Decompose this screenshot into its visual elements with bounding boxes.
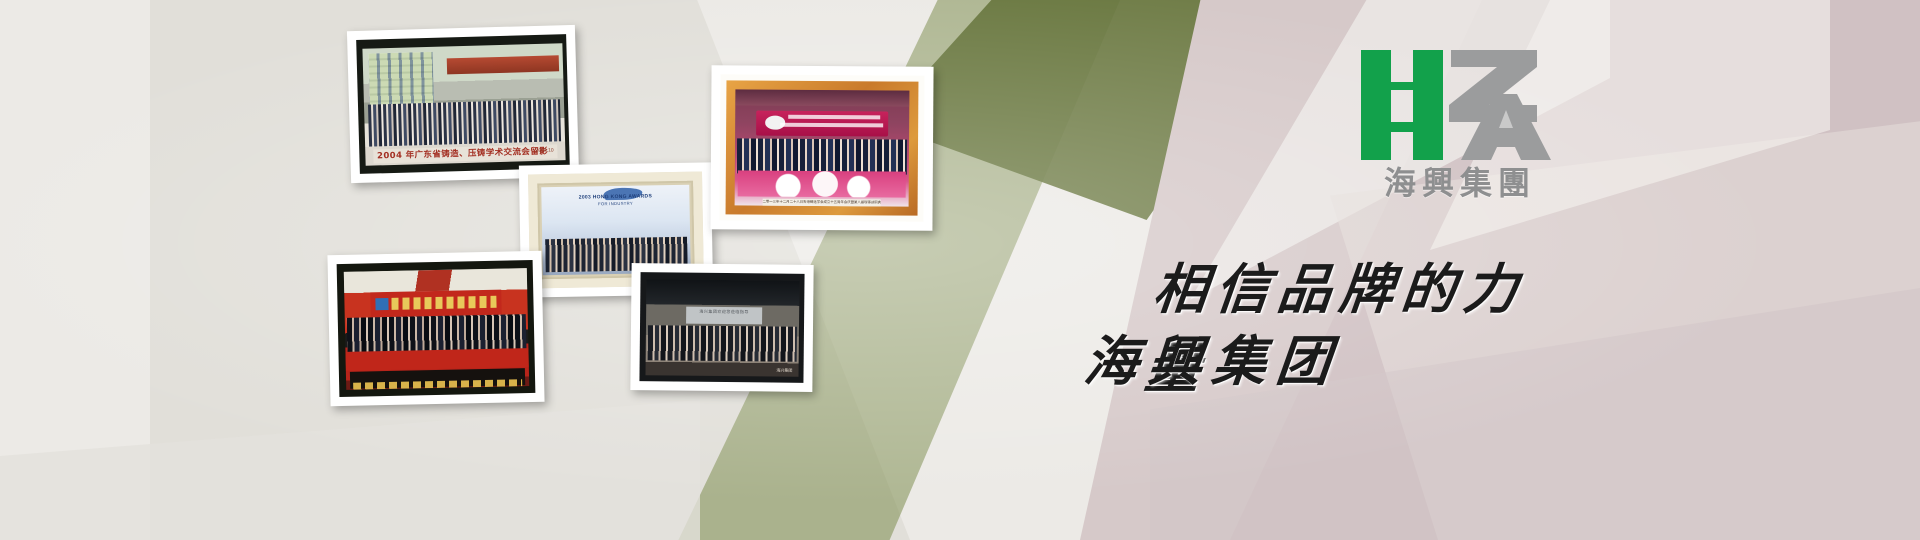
- photo-image: 2004 年广东省铸造、压铸学术交流会留影 2004.10: [362, 43, 565, 166]
- photo-welcome-sign: 海兴集团欢迎您莅临指导: [686, 306, 763, 324]
- photo-welcome-sign-text: 海兴集团欢迎您莅临指导: [686, 306, 763, 316]
- photo-image: 二零一三年十二月二十八日香港铸造学会成立十五周年会庆暨第八届理事就职典礼: [735, 89, 910, 206]
- photo-inner: 2004 年广东省铸造、压铸学术交流会留影 2004.10: [356, 34, 570, 174]
- photo-frame-entrance-group: 海兴集团欢迎您莅临指导 海兴集团: [630, 263, 813, 392]
- photo-plate-text: 二零一三年十二月二十八日香港铸造学会成立十五周年会庆暨第八届理事就职典礼: [762, 199, 880, 206]
- ceremony-banner-line1: [788, 115, 881, 120]
- photo-plate: 二零一三年十二月二十八日香港铸造学会成立十五周年会庆暨第八届理事就职典礼: [762, 199, 880, 207]
- photo-inner: 二零一三年十二月二十八日香港铸造学会成立十五周年会庆暨第八届理事就职典礼: [719, 74, 924, 221]
- photo-image: [344, 268, 529, 390]
- photo-name-roster: [350, 368, 526, 388]
- photo-caption-strip: 2004 年广东省铸造、压铸学术交流会留影 2004.10: [373, 144, 557, 163]
- photo-inner: [337, 260, 536, 397]
- photo-frame-award-ceremony: 二零一三年十二月二十八日香港铸造学会成立十五周年会庆暨第八届理事就职典礼: [710, 65, 933, 231]
- photo-crowd: [368, 99, 561, 146]
- photo-caption-text: 2004 年广东省铸造、压铸学术交流会留影: [377, 145, 548, 162]
- photo-crowd: [737, 138, 908, 174]
- brand-banner: 2004 年广东省铸造、压铸学术交流会留影 2004.10 2003 HONG …: [0, 0, 1920, 540]
- photo-caption-date: 2004.10: [535, 147, 553, 154]
- company-logo: 海興集團: [1355, 48, 1565, 208]
- photo-crowd: [347, 314, 527, 353]
- hhza-logo-icon: [1355, 48, 1565, 163]
- backdrop-emblem-icon: [375, 298, 388, 310]
- photo-building-fascia: [646, 279, 799, 306]
- photo-crowd: [647, 325, 797, 361]
- photo-frame-2004-academic-exchange: 2004 年广东省铸造、压铸学术交流会留影 2004.10: [347, 25, 579, 183]
- photo-flower-arrangement: [738, 171, 905, 198]
- photo-inner: 海兴集团欢迎您莅临指导 海兴集团: [639, 272, 804, 383]
- roster-row: [353, 379, 522, 390]
- photo-header: 2003 HONG KONG AWARDS FOR INDUSTRY: [556, 193, 675, 207]
- slogan-line-2: 海興集团: [1081, 317, 1345, 396]
- ceremony-banner: [756, 110, 888, 136]
- photo-wood-border: 二零一三年十二月二十八日香港铸造学会成立十五周年会庆暨第八届理事就职典礼: [726, 80, 919, 215]
- photo-image: 2003 HONG KONG AWARDS FOR INDUSTRY: [541, 185, 691, 276]
- brand-slogan: 相信品牌的力量 海興集团: [1085, 245, 1555, 395]
- photo-building: [369, 52, 434, 108]
- photo-frame-red-stage-group: [327, 251, 544, 406]
- background-layer: [0, 0, 1920, 540]
- photo-red-roof: [447, 55, 559, 74]
- photo-red-carpet: [345, 348, 528, 371]
- photo-ceiling: [735, 89, 909, 106]
- logo-chinese-name: 海興集團: [1355, 158, 1565, 204]
- photo-image: 海兴集团欢迎您莅临指导 海兴集团: [645, 279, 799, 377]
- backdrop-text-blocks: [391, 296, 497, 310]
- photo-corner-text: 海兴集团: [776, 368, 792, 374]
- ceremony-banner-line2: [780, 122, 883, 127]
- awards-title-line2: FOR INDUSTRY: [556, 200, 674, 207]
